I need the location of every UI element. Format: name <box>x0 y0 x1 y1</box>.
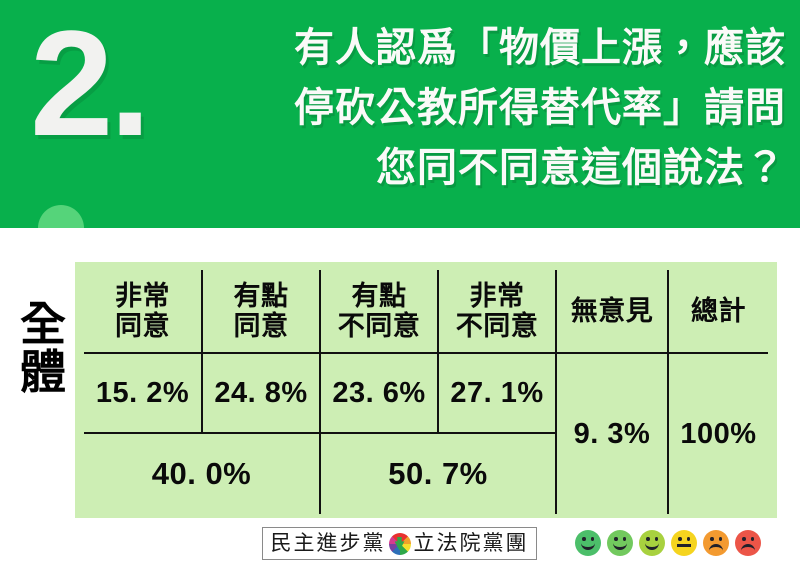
face-very-sad-icon <box>735 530 761 556</box>
question-title-line-3: 您同不同意這個說法？ <box>190 138 786 198</box>
value-somewhat-disagree: 23. 6% <box>320 353 438 433</box>
header-line-1: 非常 <box>84 281 201 311</box>
face-sad-icon <box>703 530 729 556</box>
table-value-row: 15. 2% 24. 8% 23. 6% 27. 1% 9. 3% 100% <box>84 353 768 433</box>
sentiment-face-scale <box>575 530 761 556</box>
column-header-somewhat-disagree: 有點 不同意 <box>320 270 438 353</box>
question-title: 有人認爲「物價上漲，應該 停砍公教所得替代率」請問 您同不同意這個說法？ <box>190 18 786 198</box>
column-header-total: 總計 <box>668 270 768 353</box>
header-line-2: 同意 <box>203 311 319 341</box>
value-strongly-agree: 15. 2% <box>84 353 202 433</box>
summary-agree-total: 40. 0% <box>84 433 320 514</box>
question-title-line-2: 停砍公教所得替代率」請問 <box>190 78 786 138</box>
header-line-1: 非常 <box>439 281 555 311</box>
column-header-strongly-agree: 非常 同意 <box>84 270 202 353</box>
value-no-opinion: 9. 3% <box>556 353 668 514</box>
row-label-char-2: 體 <box>14 348 72 396</box>
organization-badge: 民主進步黨 立法院黨團 <box>262 527 537 560</box>
face-very-happy-icon <box>575 530 601 556</box>
value-strongly-disagree: 27. 1% <box>438 353 556 433</box>
question-title-line-1: 有人認爲「物價上漲，應該 <box>190 18 786 78</box>
header-line-2: 不同意 <box>439 311 555 341</box>
results-table: 非常 同意 有點 同意 有點 不同意 非常 不同意 無意見 <box>84 270 768 514</box>
face-happy-icon <box>607 530 633 556</box>
value-total: 100% <box>668 353 768 514</box>
header-line-1: 總計 <box>669 296 768 326</box>
row-label-overall: 全 體 <box>14 300 72 396</box>
header-line-2: 不同意 <box>321 311 437 341</box>
header-line-1: 無意見 <box>557 296 667 326</box>
results-table-panel: 非常 同意 有點 同意 有點 不同意 非常 不同意 無意見 <box>75 262 777 518</box>
summary-disagree-total: 50. 7% <box>320 433 556 514</box>
column-header-somewhat-agree: 有點 同意 <box>202 270 320 353</box>
face-slightly-happy-icon <box>639 530 665 556</box>
column-header-strongly-disagree: 非常 不同意 <box>438 270 556 353</box>
header-line-1: 有點 <box>203 281 319 311</box>
question-number: 2. <box>30 8 147 158</box>
header-line-2: 同意 <box>84 311 201 341</box>
value-somewhat-agree: 24. 8% <box>202 353 320 433</box>
organization-name-left: 民主進步黨 <box>271 533 386 554</box>
face-neutral-icon <box>671 530 697 556</box>
header-line-1: 有點 <box>321 281 437 311</box>
table-header-row: 非常 同意 有點 同意 有點 不同意 非常 不同意 無意見 <box>84 270 768 353</box>
column-header-no-opinion: 無意見 <box>556 270 668 353</box>
dpp-logo-icon <box>389 533 411 555</box>
header-band: 2. 有人認爲「物價上漲，應該 停砍公教所得替代率」請問 您同不同意這個說法？ <box>0 0 800 228</box>
organization-name-right: 立法院黨團 <box>414 533 529 554</box>
row-label-char-1: 全 <box>14 300 72 348</box>
